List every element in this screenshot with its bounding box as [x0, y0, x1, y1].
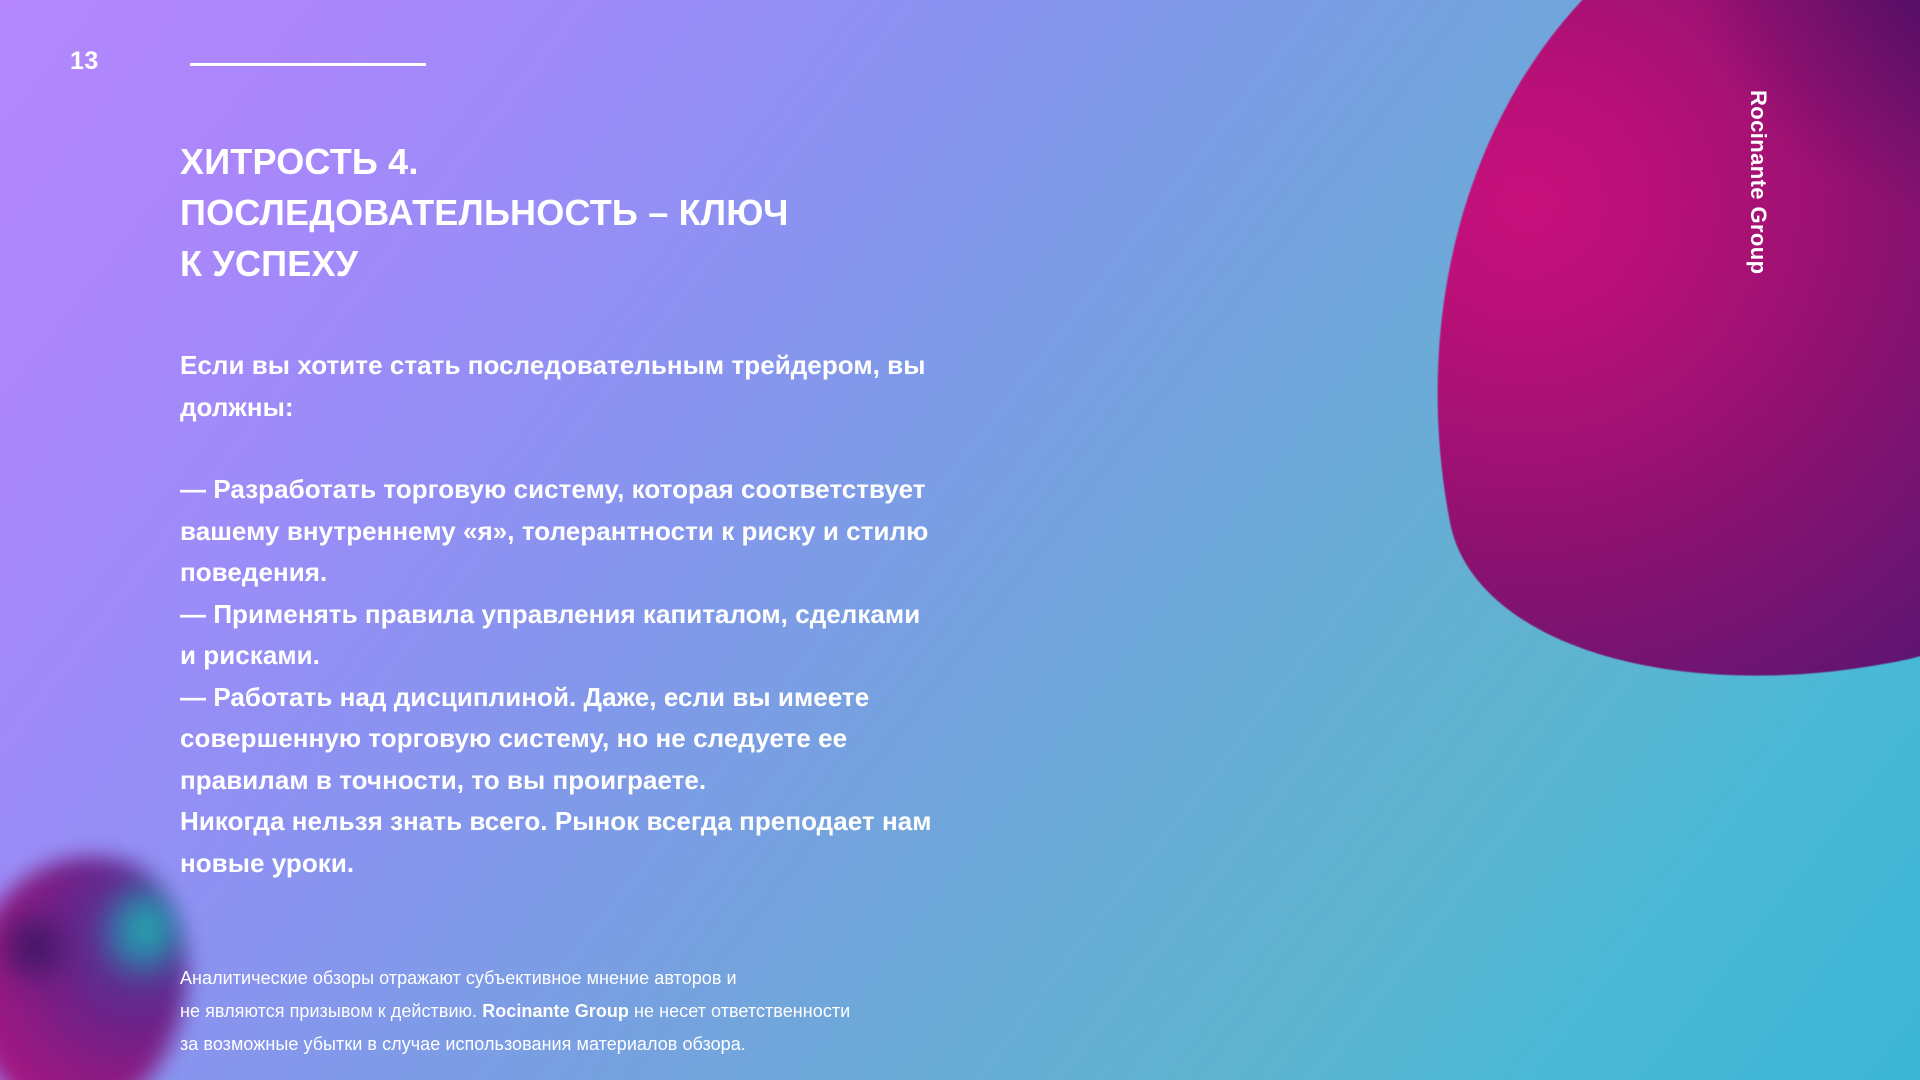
footer-line-2-suffix: не несет ответственности: [629, 1001, 850, 1021]
decorative-blob-right: [1342, 0, 1920, 740]
slide-title: Хитрость 4. Последовательность – ключ к …: [180, 136, 1140, 289]
presentation-slide: Rocinante Group 13 Хитрость 4. Последова…: [0, 0, 1920, 1080]
slide-title-line-1: Хитрость 4.: [180, 136, 1140, 187]
body-bullet-2-line-1: — Применять правила управления капиталом…: [180, 594, 1130, 636]
body-bullet-4-line-1: Никогда нельзя знать всего. Рынок всегда…: [180, 801, 1130, 843]
body-bullet-1: — Разработать торговую систему, которая …: [180, 469, 1130, 884]
page-number: 13: [70, 47, 99, 76]
brand-vertical-label: Rocinante Group: [1745, 90, 1771, 274]
slide-title-line-3: к успеху: [180, 238, 1140, 289]
slide-title-line-2: Последовательность – ключ: [180, 187, 1140, 238]
body-bullet-2-line-2: и рисками.: [180, 635, 1130, 677]
body-intro-line-1: Если вы хотите стать последовательным тр…: [180, 345, 1130, 387]
body-bullet-1-line-1: — Разработать торговую систему, которая …: [180, 469, 1130, 511]
body-bullet-4-line-2: новые уроки.: [180, 843, 1130, 885]
footer-line-2-prefix: не являются призывом к действию.: [180, 1001, 482, 1021]
body-intro-paragraph: Если вы хотите стать последовательным тр…: [180, 345, 1130, 428]
body-bullet-3-line-3: правилам в точности, то вы проиграете.: [180, 760, 1130, 802]
footer-line-2: не являются призывом к действию. Rocinan…: [180, 995, 1140, 1028]
footer-disclaimer: Аналитические обзоры отражают субъективн…: [180, 962, 1140, 1061]
footer-brand-name: Rocinante Group: [482, 1001, 629, 1021]
body-bullet-3-line-1: — Работать над дисциплиной. Даже, если в…: [180, 677, 1130, 719]
body-intro-line-2: должны:: [180, 387, 1130, 429]
body-bullet-1-line-3: поведения.: [180, 552, 1130, 594]
slide-body: Если вы хотите стать последовательным тр…: [180, 345, 1130, 884]
footer-line-3: за возможные убытки в случае использован…: [180, 1028, 1140, 1061]
body-bullet-3-line-2: совершенную торговую систему, но не след…: [180, 718, 1130, 760]
title-divider-rule: [190, 63, 426, 66]
body-bullet-1-line-2: вашему внутреннему «я», толерантности к …: [180, 511, 1130, 553]
footer-line-1: Аналитические обзоры отражают субъективн…: [180, 962, 1140, 995]
